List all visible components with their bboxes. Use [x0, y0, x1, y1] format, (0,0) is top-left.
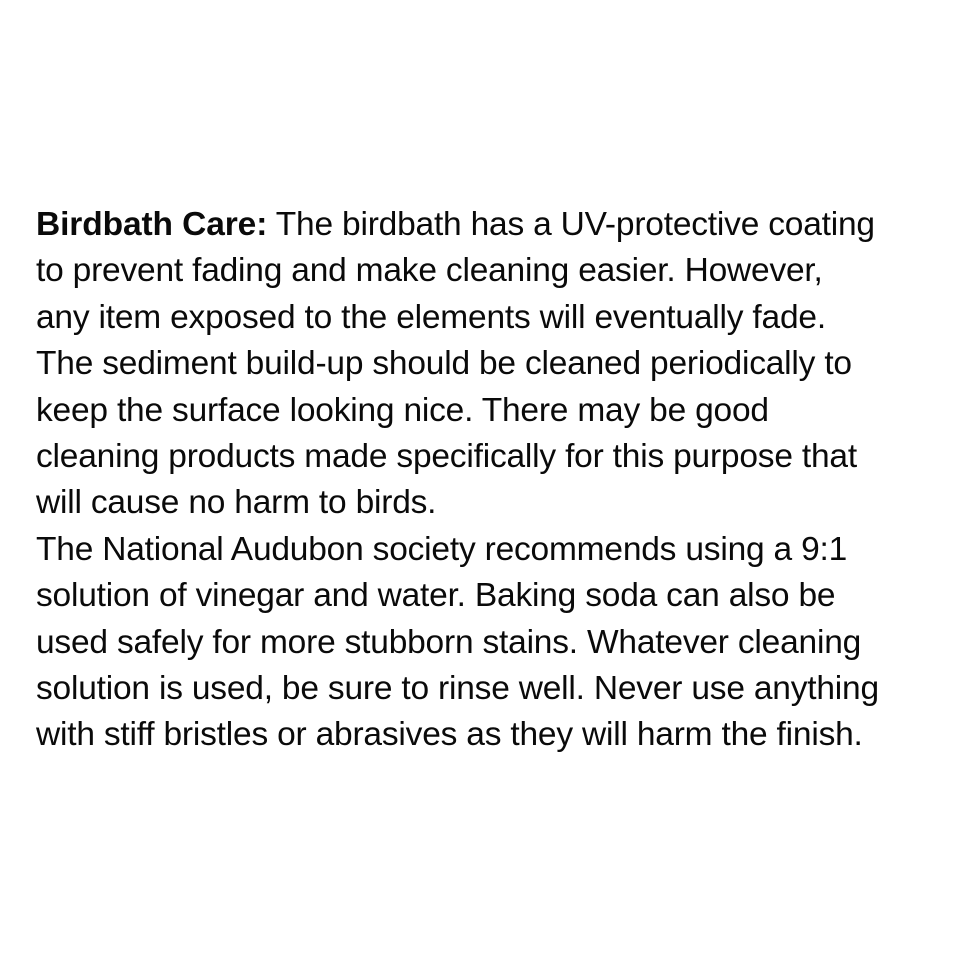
birdbath-care-text-block: Birdbath Care: The birdbath has a UV-pro… — [36, 202, 942, 759]
care-text-line-12: with stiff bristles or abrasives as they… — [36, 712, 942, 758]
care-document: Birdbath Care: The birdbath has a UV-pro… — [0, 0, 960, 960]
care-text-line-1-rest: The birdbath has a UV-protective coating — [267, 206, 875, 243]
care-text-line-1: Birdbath Care: The birdbath has a UV-pro… — [36, 202, 942, 248]
care-text-line-6: cleaning products made specifically for … — [36, 434, 942, 480]
care-text-line-7: will cause no harm to birds. — [36, 480, 942, 526]
birdbath-care-label: Birdbath Care: — [36, 206, 267, 243]
care-text-line-9: solution of vinegar and water. Baking so… — [36, 573, 942, 619]
care-text-line-10: used safely for more stubborn stains. Wh… — [36, 620, 942, 666]
care-text-line-5: keep the surface looking nice. There may… — [36, 388, 942, 434]
care-text-line-11: solution is used, be sure to rinse well.… — [36, 666, 942, 712]
care-text-line-3: any item exposed to the elements will ev… — [36, 295, 942, 341]
care-text-line-4: The sediment build-up should be cleaned … — [36, 341, 942, 387]
care-text-line-8: The National Audubon society recommends … — [36, 527, 942, 573]
care-text-line-2: to prevent fading and make cleaning easi… — [36, 248, 942, 294]
